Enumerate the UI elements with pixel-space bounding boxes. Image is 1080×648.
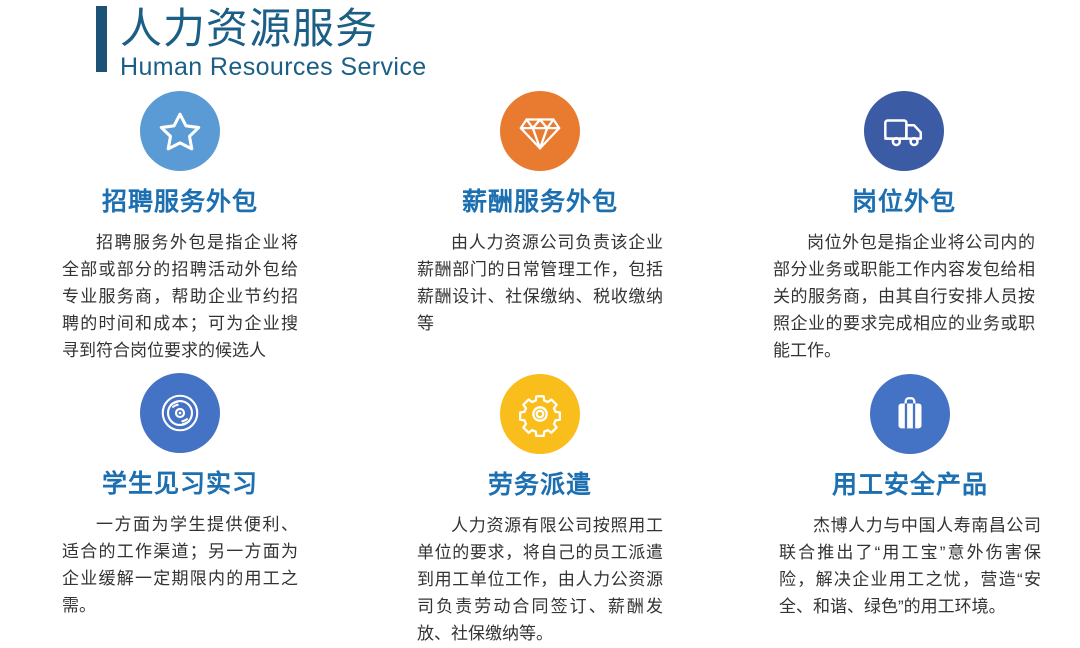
- service-card-employment-safety-product[interactable]: 用工安全产品 杰博人力与中国人寿南昌公司联合推出了“用工宝”意外伤害保险，解决企…: [720, 365, 1080, 648]
- card-title: 薪酬服务外包: [462, 187, 618, 217]
- service-card-recruitment-outsourcing[interactable]: 招聘服务外包 招聘服务外包是指企业将全部或部分的招聘活动外包给专业服务商，帮助企…: [0, 82, 360, 365]
- truck-icon-circle: [864, 91, 944, 171]
- diamond-icon: [517, 108, 563, 154]
- card-body: 一方面为学生提供便利、适合的工作渠道；另一方面为企业缓解一定期限内的用工之需。: [62, 511, 298, 619]
- card-title: 用工安全产品: [832, 470, 988, 500]
- card-title: 学生见习实习: [102, 469, 258, 499]
- card-body: 人力资源有限公司按照用工单位的要求，将自己的员工派遣到用工单位工作，由人力公资源…: [417, 512, 663, 647]
- card-body: 招聘服务外包是指企业将全部或部分的招聘活动外包给专业服务商，帮助企业节约招聘的时…: [62, 229, 298, 364]
- service-card-payroll-outsourcing[interactable]: 薪酬服务外包 由人力资源公司负责该企业薪酬部门的日常管理工作，包括薪酬设计、社保…: [360, 82, 720, 365]
- card-title: 招聘服务外包: [102, 187, 258, 217]
- disc-icon-circle: [140, 373, 220, 453]
- card-body: 杰博人力与中国人寿南昌公司联合推出了“用工宝”意外伤害保险，解决企业用工之忧，营…: [779, 512, 1041, 620]
- briefcase-icon: [887, 391, 933, 437]
- infographic-page: 人力资源服务 Human Resources Service 招聘服务外包 招聘…: [0, 0, 1080, 633]
- truck-icon: [881, 108, 927, 154]
- page-title-cn: 人力资源服务: [120, 6, 427, 52]
- disc-icon: [157, 390, 203, 436]
- card-body: 由人力资源公司负责该企业薪酬部门的日常管理工作，包括薪酬设计、社保缴纳、税收缴纳…: [417, 229, 663, 337]
- gear-icon: [517, 391, 563, 437]
- briefcase-icon-circle: [870, 374, 950, 454]
- card-body: 岗位外包是指企业将公司内的部分业务或职能工作内容发包给相关的服务商，由其自行安排…: [773, 229, 1035, 364]
- service-card-position-outsourcing[interactable]: 岗位外包 岗位外包是指企业将公司内的部分业务或职能工作内容发包给相关的服务商，由…: [720, 82, 1080, 365]
- star-icon: [157, 108, 203, 154]
- star-icon-circle: [140, 91, 220, 171]
- gear-icon-circle: [500, 374, 580, 454]
- diamond-icon-circle: [500, 91, 580, 171]
- card-title: 劳务派遣: [488, 470, 592, 500]
- service-card-grid: 招聘服务外包 招聘服务外包是指企业将全部或部分的招聘活动外包给专业服务商，帮助企…: [0, 82, 1080, 648]
- page-header: 人力资源服务 Human Resources Service: [96, 6, 427, 81]
- page-title-en: Human Resources Service: [120, 53, 427, 81]
- service-card-student-internship[interactable]: 学生见习实习 一方面为学生提供便利、适合的工作渠道；另一方面为企业缓解一定期限内…: [0, 365, 360, 648]
- card-title: 岗位外包: [852, 187, 956, 217]
- service-card-labor-dispatch[interactable]: 劳务派遣 人力资源有限公司按照用工单位的要求，将自己的员工派遣到用工单位工作，由…: [360, 365, 720, 648]
- header-text-group: 人力资源服务 Human Resources Service: [120, 6, 427, 81]
- header-accent-bar: [96, 6, 107, 72]
